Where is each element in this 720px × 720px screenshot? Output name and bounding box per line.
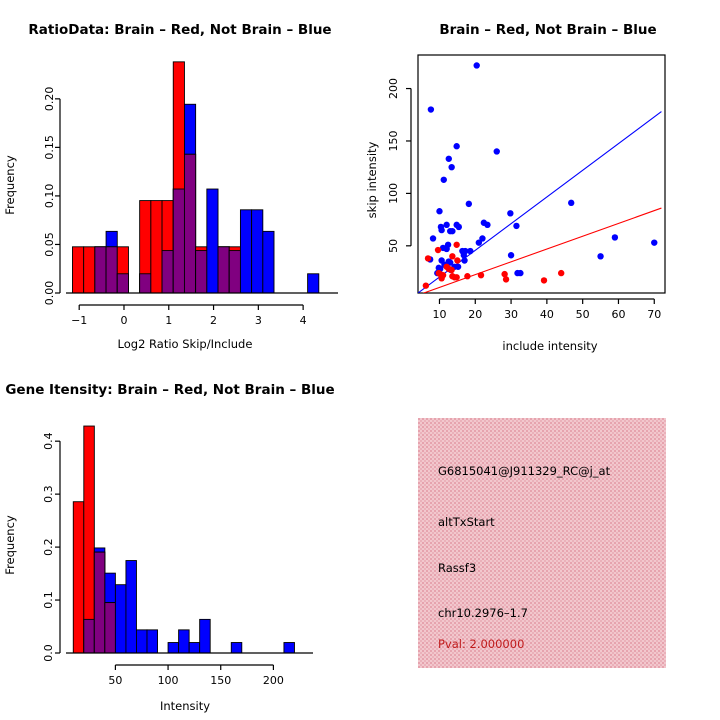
panel-intensity-histogram: Gene Itensity: Brain – Red, Not Brain – … xyxy=(0,360,360,720)
histogram-bar-overlap xyxy=(84,619,95,653)
scatter-point xyxy=(449,253,455,259)
histogram-bar-overlap xyxy=(184,154,195,293)
scatter-point xyxy=(454,257,460,263)
intensity-histogram-title: Gene Itensity: Brain – Red, Not Brain – … xyxy=(5,382,334,398)
scatter-point xyxy=(443,222,449,228)
scatter-point xyxy=(449,228,455,234)
scatter-point xyxy=(508,252,514,258)
scatter-point xyxy=(455,264,461,270)
histogram-bar-blue xyxy=(179,630,190,653)
scatter-point xyxy=(428,106,434,112)
intensity-histogram-plot: Gene Itensity: Brain – Red, Not Brain – … xyxy=(0,360,360,720)
scatter-point xyxy=(461,257,467,263)
ratio-histogram-title: RatioData: Brain – Red, Not Brain – Blue xyxy=(28,22,331,38)
histogram-bar-blue xyxy=(168,643,179,653)
y-axis-tick-label: 0.10 xyxy=(43,184,56,209)
histogram-bar-blue xyxy=(115,585,126,653)
scatter-plot: Brain – Red, Not Brain – Blue include in… xyxy=(360,0,720,360)
histogram-bar-blue xyxy=(231,643,242,653)
x-axis-tick-label: 100 xyxy=(158,674,179,687)
scatter-point xyxy=(467,248,473,254)
x-axis-tick-label: 200 xyxy=(263,674,284,687)
histogram-bar-overlap xyxy=(229,251,240,293)
scatter-point xyxy=(423,282,429,288)
scatter-point xyxy=(494,148,500,154)
histogram-bar-blue xyxy=(126,561,137,653)
histogram-bar-overlap xyxy=(106,247,117,293)
scatter-xlabel: include intensity xyxy=(502,339,597,353)
histogram-bar-blue xyxy=(308,274,319,293)
histogram-bar-red xyxy=(84,247,95,293)
scatter-point xyxy=(478,272,484,278)
histogram-bar-blue xyxy=(147,630,158,653)
x-axis-tick-label: 2 xyxy=(210,314,217,327)
histogram-bar-blue xyxy=(207,189,218,293)
y-axis-tick-label: 0.05 xyxy=(43,232,56,256)
y-axis-tick-label: 0.1 xyxy=(42,591,55,609)
scatter-point xyxy=(612,234,618,240)
y-axis-tick-label: 0.0 xyxy=(42,644,55,662)
scatter-point xyxy=(513,223,519,229)
x-axis-tick-label: 0 xyxy=(120,314,127,327)
x-axis-tick-label: 4 xyxy=(300,314,307,327)
histogram-bar-overlap xyxy=(117,274,128,293)
intensity-histogram-xlabel: Intensity xyxy=(160,699,210,713)
histogram-bar-red xyxy=(72,247,83,293)
histogram-bar-overlap xyxy=(105,603,116,653)
panel-ratio-histogram: RatioData: Brain – Red, Not Brain – Blue… xyxy=(0,0,360,360)
histogram-bar-blue xyxy=(200,619,211,653)
y-axis-tick-label: 100 xyxy=(387,183,400,204)
scatter-point xyxy=(430,235,436,241)
scatter-title: Brain – Red, Not Brain – Blue xyxy=(439,22,656,38)
scatter-point xyxy=(425,255,431,261)
scatter-point xyxy=(448,164,454,170)
scatter-fit-line xyxy=(418,208,661,295)
histogram-bar-blue xyxy=(136,630,147,653)
info-pval: Pval: 2.000000 xyxy=(438,637,524,651)
y-axis-tick-label: 0.00 xyxy=(43,281,56,306)
scatter-point xyxy=(456,224,462,230)
intensity-histogram-ylabel: Frequency xyxy=(3,515,17,575)
x-axis-tick-label: 1 xyxy=(165,314,172,327)
x-axis-tick-label: 60 xyxy=(611,308,625,321)
scatter-point xyxy=(517,270,523,276)
ratio-histogram-xlabel: Log2 Ratio Skip/Include xyxy=(118,337,253,351)
scatter-point xyxy=(453,274,459,280)
scatter-point xyxy=(436,208,442,214)
histogram-bar-overlap xyxy=(218,247,229,293)
y-axis-tick-label: 0.2 xyxy=(42,538,55,556)
histogram-bar-blue xyxy=(189,643,200,653)
y-axis-tick-label: 0.20 xyxy=(43,87,56,112)
scatter-point xyxy=(464,273,470,279)
histogram-bar-overlap xyxy=(162,251,173,293)
x-axis-tick-label: 30 xyxy=(504,308,518,321)
ratio-histogram-bars xyxy=(72,62,318,293)
x-axis-tick-label: 40 xyxy=(540,308,554,321)
x-axis-tick-label: 20 xyxy=(468,308,482,321)
scatter-point xyxy=(474,62,480,68)
gene-info-box: G6815041@J911329_RC@j_at altTxStart Rass… xyxy=(418,418,666,668)
y-axis-tick-label: 50 xyxy=(387,239,400,253)
ratio-histogram-plot: RatioData: Brain – Red, Not Brain – Blue… xyxy=(0,0,360,360)
y-axis-tick-label: 0.15 xyxy=(43,135,56,160)
histogram-bar-blue xyxy=(252,210,263,293)
y-axis-tick-label: 0.3 xyxy=(42,485,55,503)
scatter-point xyxy=(597,253,603,259)
x-axis-tick-label: 10 xyxy=(432,308,446,321)
histogram-bar-red xyxy=(73,502,84,653)
scatter-point xyxy=(651,239,657,245)
scatter-point xyxy=(443,246,449,252)
scatter-point xyxy=(568,200,574,206)
intensity-histogram-bars xyxy=(73,426,294,653)
scatter-points xyxy=(423,62,658,289)
histogram-bar-overlap xyxy=(173,189,184,293)
y-axis-tick-label: 150 xyxy=(387,130,400,151)
figure-canvas: RatioData: Brain – Red, Not Brain – Blue… xyxy=(0,0,720,720)
info-probe-id: G6815041@J911329_RC@j_at xyxy=(438,464,610,478)
scatter-point xyxy=(507,210,513,216)
scatter-point xyxy=(453,242,459,248)
scatter-point xyxy=(435,247,441,253)
scatter-point xyxy=(453,143,459,149)
info-location: chr10.2976–1.7 xyxy=(438,606,528,620)
histogram-bar-overlap xyxy=(94,552,105,653)
x-axis-tick-label: 70 xyxy=(647,308,661,321)
histogram-bar-red xyxy=(151,201,162,293)
histogram-bar-overlap xyxy=(196,251,207,293)
x-axis-tick-label: −1 xyxy=(71,314,87,327)
scatter-point xyxy=(476,239,482,245)
scatter-point xyxy=(446,156,452,162)
x-axis-tick-label: 150 xyxy=(210,674,231,687)
x-axis-tick-label: 3 xyxy=(255,314,262,327)
histogram-bar-overlap xyxy=(95,247,106,293)
histogram-bar-blue xyxy=(284,643,295,653)
scatter-point xyxy=(438,275,444,281)
scatter-point xyxy=(484,222,490,228)
scatter-point xyxy=(466,201,472,207)
info-gene-name: Rassf3 xyxy=(438,561,476,575)
histogram-bar-blue xyxy=(263,231,274,293)
scatter-point xyxy=(448,267,454,273)
scatter-point xyxy=(558,270,564,276)
x-axis-tick-label: 50 xyxy=(108,674,122,687)
x-axis-tick-label: 50 xyxy=(576,308,590,321)
y-axis-tick-label: 0.4 xyxy=(42,432,55,450)
panel-scatter: Brain – Red, Not Brain – Blue include in… xyxy=(360,0,720,360)
y-axis-tick-label: 200 xyxy=(387,78,400,99)
scatter-point xyxy=(438,227,444,233)
ratio-histogram-ylabel: Frequency xyxy=(3,155,17,215)
scatter-point xyxy=(503,276,509,282)
histogram-bar-blue xyxy=(240,210,251,293)
scatter-ylabel: skip intensity xyxy=(365,141,379,218)
scatter-point xyxy=(441,177,447,183)
scatter-point xyxy=(541,277,547,283)
info-event-type: altTxStart xyxy=(438,515,495,529)
histogram-bar-overlap xyxy=(140,274,151,293)
